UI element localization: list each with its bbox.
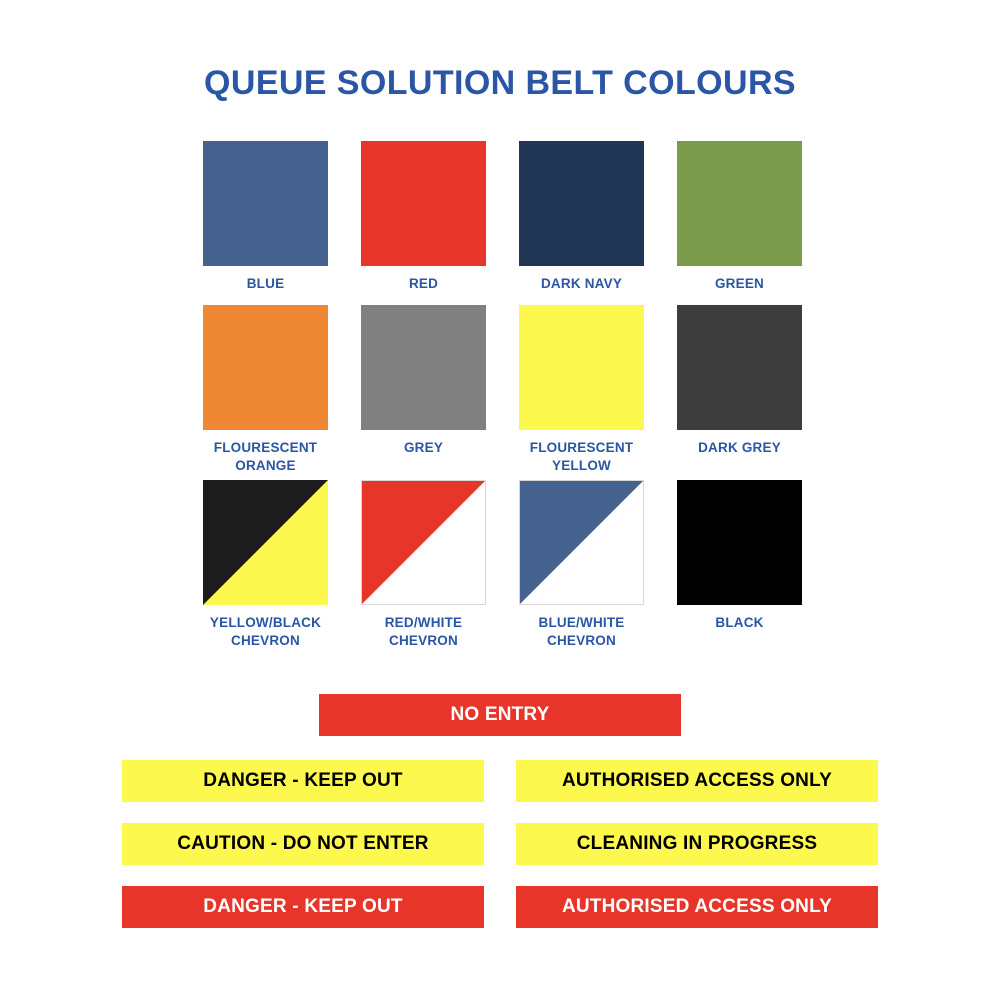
colour-swatch[interactable] (519, 141, 644, 266)
swatch-fill (677, 141, 802, 266)
banner-row-featured: NO ENTRY (0, 694, 1000, 736)
page-title: QUEUE SOLUTION BELT COLOURS (0, 64, 1000, 103)
swatch-fill (677, 480, 802, 605)
banner-row-yellow-1: DANGER - KEEP OUTAUTHORISED ACCESS ONLY (0, 760, 1000, 802)
swatch-label: FLOURESCENT ORANGE (214, 439, 317, 475)
banner-message[interactable]: CLEANING IN PROGRESS (516, 823, 878, 865)
swatch-cell: BLUE (203, 141, 328, 305)
banner-message[interactable]: AUTHORISED ACCESS ONLY (516, 760, 878, 802)
swatch-fill (519, 141, 644, 266)
swatch-label: RED/WHITE CHEVRON (385, 614, 463, 650)
colour-swatch[interactable] (203, 141, 328, 266)
swatch-fill (361, 305, 486, 430)
swatch-cell: YELLOW/BLACK CHEVRON (203, 480, 328, 655)
colour-swatch[interactable] (519, 305, 644, 430)
swatch-cell: FLOURESCENT YELLOW (519, 305, 644, 480)
swatch-cell: RED (361, 141, 486, 305)
chevron-colours-row-3: YELLOW/BLACK CHEVRONRED/WHITE CHEVRONBLU… (203, 480, 803, 655)
banner-row-red: DANGER - KEEP OUTAUTHORISED ACCESS ONLY (0, 886, 1000, 928)
swatch-label: YELLOW/BLACK CHEVRON (210, 614, 321, 650)
banner-message[interactable]: CAUTION - DO NOT ENTER (122, 823, 484, 865)
banner-rows: DANGER - KEEP OUTAUTHORISED ACCESS ONLYC… (0, 760, 1000, 928)
colour-swatch[interactable] (361, 480, 486, 605)
swatch-cell: BLACK (677, 480, 802, 655)
swatch-label: BLUE/WHITE CHEVRON (539, 614, 625, 650)
swatch-cell: DARK NAVY (519, 141, 644, 305)
colour-swatch[interactable] (203, 305, 328, 430)
swatch-cell: RED/WHITE CHEVRON (361, 480, 486, 655)
swatch-cell: GREY (361, 305, 486, 480)
swatch-label: FLOURESCENT YELLOW (530, 439, 633, 475)
swatch-fill (203, 141, 328, 266)
swatch-cell: DARK GREY (677, 305, 802, 480)
chevron-diagonal-icon (519, 480, 644, 605)
solid-colours-row-2: FLOURESCENT ORANGEGREYFLOURESCENT YELLOW… (203, 305, 803, 480)
banner-row-yellow-2: CAUTION - DO NOT ENTERCLEANING IN PROGRE… (0, 823, 1000, 865)
swatch-label: DARK GREY (698, 439, 781, 457)
colour-swatch[interactable] (519, 480, 644, 605)
banner-no-entry[interactable]: NO ENTRY (319, 694, 681, 736)
swatch-label: DARK NAVY (541, 275, 622, 293)
banner-section: NO ENTRY DANGER - KEEP OUTAUTHORISED ACC… (0, 694, 1000, 928)
banner-message[interactable]: DANGER - KEEP OUT (122, 886, 484, 928)
colour-swatch[interactable] (677, 141, 802, 266)
chevron-diagonal-icon (361, 480, 486, 605)
swatch-cell: BLUE/WHITE CHEVRON (519, 480, 644, 655)
colour-swatch[interactable] (203, 480, 328, 605)
colour-swatch[interactable] (677, 305, 802, 430)
colour-swatch[interactable] (361, 305, 486, 430)
banner-message[interactable]: DANGER - KEEP OUT (122, 760, 484, 802)
swatch-label: RED (409, 275, 438, 293)
solid-colours-row-1: BLUEREDDARK NAVYGREEN (203, 141, 803, 305)
swatch-fill (677, 305, 802, 430)
banner-message[interactable]: AUTHORISED ACCESS ONLY (516, 886, 878, 928)
swatch-label: BLUE (247, 275, 285, 293)
swatch-label: GREY (404, 439, 443, 457)
swatch-fill (203, 305, 328, 430)
colour-swatch[interactable] (677, 480, 802, 605)
swatch-cell: GREEN (677, 141, 802, 305)
belt-colours-poster: QUEUE SOLUTION BELT COLOURS BLUEREDDARK … (0, 0, 1000, 1000)
swatch-label: GREEN (715, 275, 764, 293)
chevron-diagonal-icon (203, 480, 328, 605)
swatch-fill (361, 141, 486, 266)
swatch-fill (519, 305, 644, 430)
swatch-cell: FLOURESCENT ORANGE (203, 305, 328, 480)
colour-swatch[interactable] (361, 141, 486, 266)
swatch-label: BLACK (715, 614, 763, 632)
